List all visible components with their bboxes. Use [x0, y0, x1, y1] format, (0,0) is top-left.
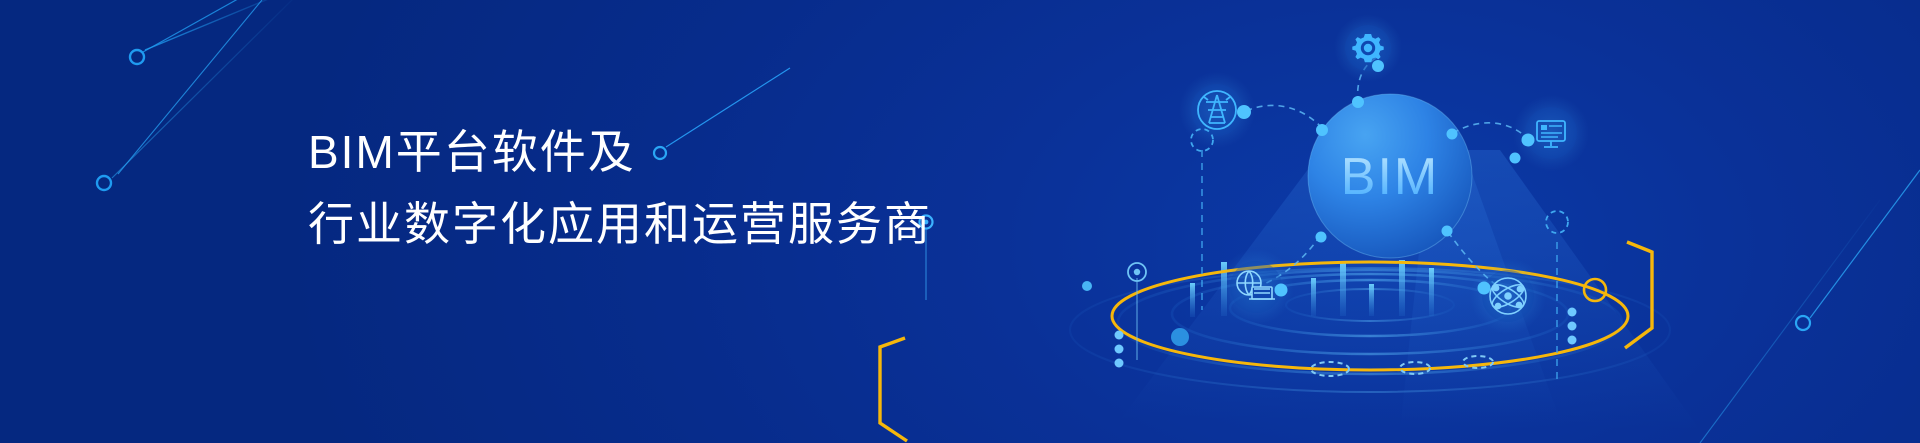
bracket-right	[1625, 242, 1652, 348]
dot	[1115, 359, 1124, 368]
node-network[interactable]	[1470, 258, 1546, 334]
node-gear[interactable]	[1334, 14, 1402, 82]
stray-dot-left	[1082, 281, 1092, 291]
data-bar	[1340, 262, 1346, 316]
node-anchor-dot	[1522, 134, 1535, 147]
headline-line-2: 行业数字化应用和运营服务商	[308, 188, 928, 260]
dot	[1115, 345, 1124, 354]
node-monitor[interactable]	[1510, 95, 1590, 171]
dot	[1568, 322, 1577, 331]
bim-illustration: BIM	[0, 0, 1920, 443]
data-bar	[1311, 278, 1316, 316]
connector-dot	[1442, 226, 1453, 237]
dot	[1568, 336, 1577, 345]
antenna-dot-far-left	[1134, 269, 1140, 275]
node-anchor-dot	[1275, 284, 1288, 297]
connector-dot	[1316, 124, 1328, 136]
hero-banner: BIM平台软件及 行业数字化应用和运营服务商	[0, 0, 1920, 443]
bracket-left	[880, 338, 907, 441]
data-bar	[1369, 284, 1374, 316]
connector-dot	[1447, 129, 1458, 140]
gear-icon	[1352, 34, 1383, 62]
dot-column-left	[1115, 331, 1124, 368]
sphere-label: BIM	[1341, 148, 1439, 206]
connector-power-tower	[1244, 105, 1322, 128]
node-power-tower[interactable]	[1179, 72, 1255, 148]
node-anchor-dot	[1237, 105, 1251, 119]
node-satellite-dot	[1510, 153, 1521, 164]
headline-block: BIM平台软件及 行业数字化应用和运营服务商	[308, 116, 928, 260]
node-anchor-dot	[1478, 282, 1491, 295]
dot	[1568, 308, 1577, 317]
data-bar	[1399, 260, 1405, 316]
data-bar	[1429, 268, 1434, 316]
data-bar	[1190, 283, 1195, 317]
connector-dot	[1316, 232, 1327, 243]
antenna-head-right	[1546, 211, 1568, 233]
dot-column-right	[1568, 308, 1577, 345]
node-anchor-dot	[1372, 60, 1384, 72]
stray-dot-platform	[1171, 328, 1189, 346]
dot	[1115, 331, 1124, 340]
connector-dot	[1352, 96, 1364, 108]
headline-line-1: BIM平台软件及	[308, 116, 928, 188]
node-globe-laptop[interactable]	[1218, 249, 1294, 325]
